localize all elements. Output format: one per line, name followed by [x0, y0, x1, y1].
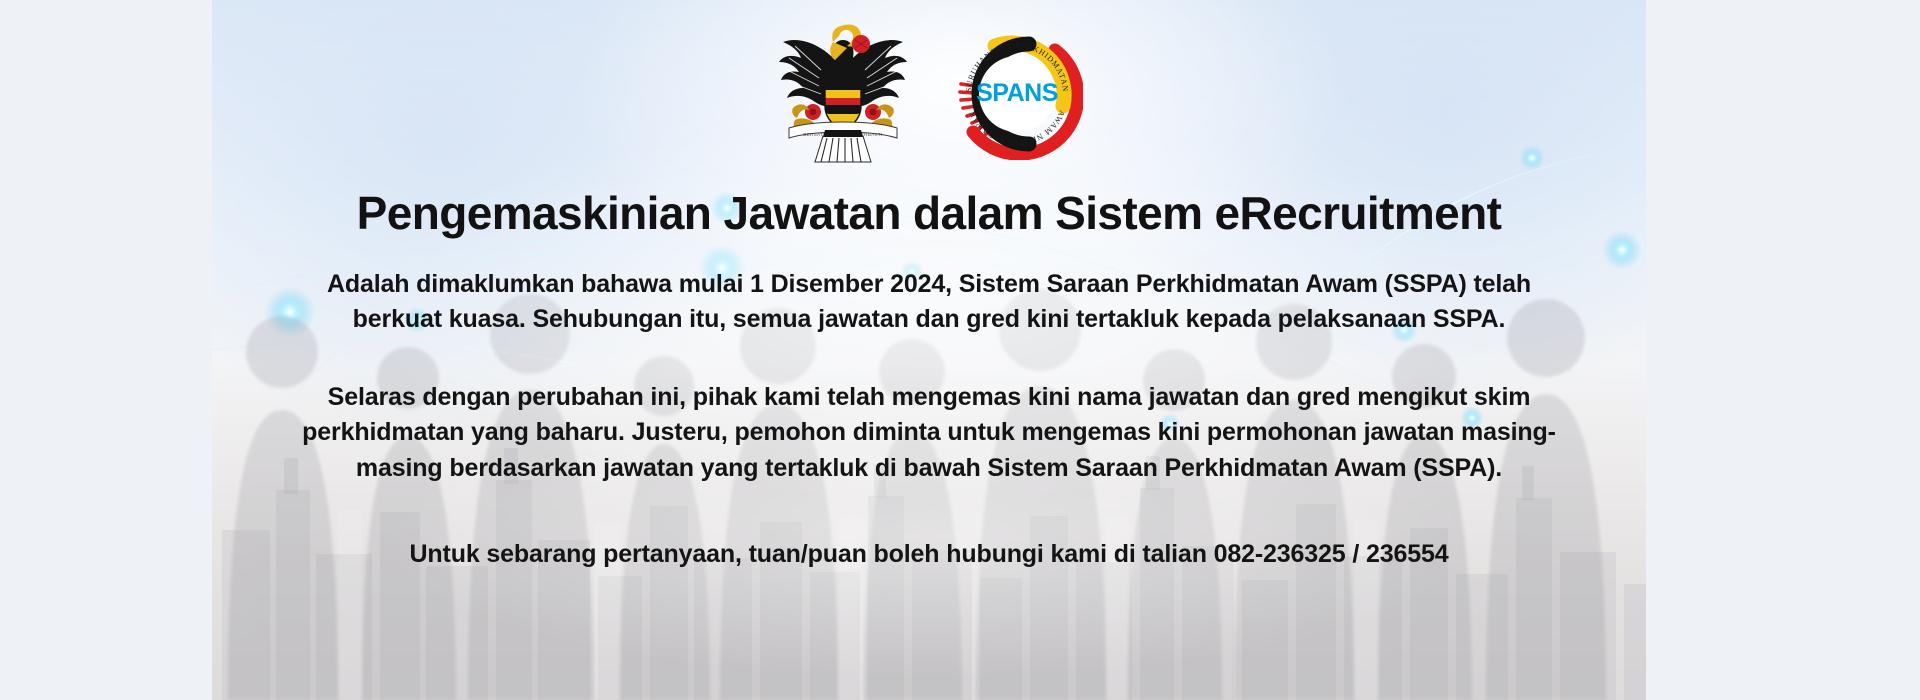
announcement-banner: BERSATU BERUSAHA BERBAKTI [212, 0, 1646, 700]
page-root: BERSATU BERUSAHA BERBAKTI [0, 0, 1920, 700]
announcement-body: Adalah dimaklumkan bahawa mulai 1 Disemb… [284, 267, 1574, 487]
announcement-paragraph: Adalah dimaklumkan bahawa mulai 1 Disemb… [284, 267, 1574, 338]
svg-text:SPANS: SPANS [976, 79, 1058, 107]
contact-line: Untuk sebarang pertanyaan, tuan/puan bol… [410, 540, 1449, 569]
right-gutter [1646, 0, 1920, 700]
logo-row: BERSATU BERUSAHA BERBAKTI [775, 16, 1083, 166]
sarawak-coat-of-arms-icon: BERSATU BERUSAHA BERBAKTI [775, 16, 911, 164]
announcement-paragraph: Selaras dengan perubahan ini, pihak kami… [284, 380, 1574, 487]
left-gutter [0, 0, 212, 700]
spans-logo-icon: SURUHANJAYA PERKHIDMATAN AWAM NEGERI SAR… [951, 28, 1083, 160]
page-title: Pengemaskinian Jawatan dalam Sistem eRec… [357, 188, 1502, 239]
banner-content: BERSATU BERUSAHA BERBAKTI [212, 0, 1646, 700]
